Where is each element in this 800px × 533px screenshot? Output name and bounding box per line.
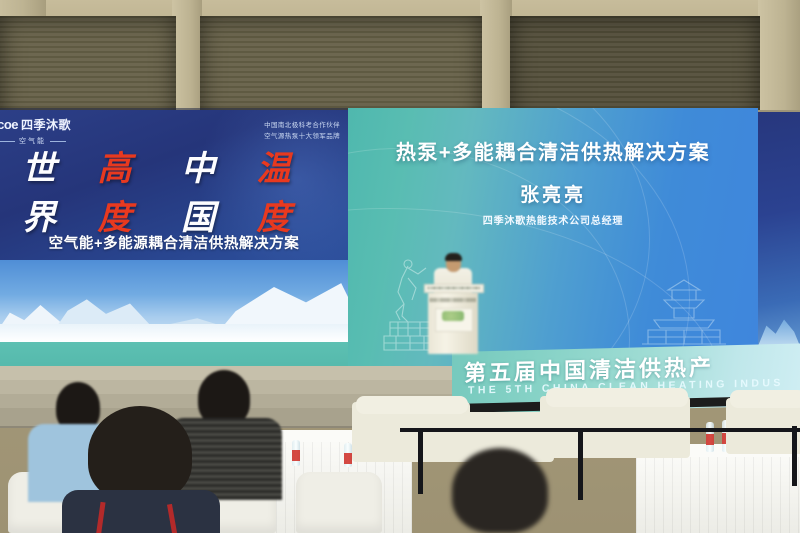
attendee-right-head — [452, 448, 548, 533]
chair-3 — [296, 472, 382, 533]
speaker-role: 四季沐歌热能技术公司总经理 — [348, 212, 758, 227]
panel-base-strip — [0, 342, 348, 368]
stage-sofa-left-cushion — [356, 396, 468, 414]
attendee-right-blurred — [432, 448, 564, 533]
pillar-4 — [758, 0, 800, 120]
presentation-title: 热泵+多能耦合清洁供热解决方案 — [348, 136, 758, 165]
conference-photo: icoe 四季沐歌 空气能 中国南北极科考合作伙伴 空气源热泵十大领军品牌 世界… — [0, 0, 800, 533]
brand-subtitle: 空气能+多能源耦合清洁供热解决方案 — [0, 232, 348, 253]
calligraphy-slogan: 世界 高度 中国 温度 — [22, 162, 322, 218]
snow-mountain-image — [0, 260, 348, 342]
calligraphy-word-3: 中国 — [181, 141, 247, 239]
calligraphy-word-1: 世界 — [22, 141, 88, 239]
calligraphy-word-2: 高度 — [98, 141, 164, 239]
rail-post-1 — [418, 428, 423, 494]
podium-name-board-text — [428, 287, 480, 289]
bottle-label-1 — [706, 434, 714, 445]
brand-panel-left: icoe 四季沐歌 空气能 中国南北极科考合作伙伴 空气源热泵十大领军品牌 世界… — [0, 110, 348, 368]
podium — [428, 292, 478, 354]
attendee-foreground-lanyard — [62, 406, 220, 533]
pillar-2 — [172, 0, 202, 120]
attendee-foreground-head — [88, 406, 192, 502]
water-bottle-4 — [344, 443, 352, 467]
brand-panel-right — [758, 112, 800, 364]
partner-credits: 中国南北极科考合作伙伴 空气源热泵十大领军品牌 — [264, 120, 340, 142]
water-bottle-1 — [706, 422, 714, 452]
pagoda-illustration — [638, 276, 730, 352]
stage-sofa-far-right-cushion — [730, 390, 800, 408]
speaker-hair — [445, 253, 462, 261]
bottle-label-4 — [344, 453, 352, 464]
stage-sofa-right-cushion — [546, 388, 688, 407]
rail-horizontal — [400, 428, 800, 432]
logo-brand-cn: 四季沐歌 — [21, 116, 71, 133]
speaker-name: 张亮亮 — [348, 180, 758, 207]
calligraphy-word-4: 温度 — [257, 141, 323, 239]
rail-post-3 — [792, 426, 797, 486]
attendee-foreground-body — [62, 490, 220, 533]
rail-post-2 — [578, 428, 583, 500]
podium-name-board — [424, 284, 484, 293]
partner-line-1: 中国南北极科考合作伙伴 — [264, 120, 340, 131]
logo-mark-text: icoe — [0, 117, 18, 132]
bottle-label-3 — [292, 450, 300, 461]
logo-rule-left — [0, 141, 15, 142]
pillar-3 — [480, 0, 512, 120]
water-bottle-3 — [292, 440, 300, 466]
table-right — [636, 452, 800, 533]
podium-leaf-logo-icon — [442, 311, 464, 321]
led-screen-wall: icoe 四季沐歌 空气能 中国南北极科考合作伙伴 空气源热泵十大领军品牌 世界… — [0, 108, 800, 370]
presentation-panel: 热泵+多能耦合清洁供热解决方案 张亮亮 四季沐歌热能技术公司总经理 — [348, 108, 758, 370]
right-panel-mountain — [758, 312, 800, 346]
podium-sign-text — [430, 298, 476, 302]
